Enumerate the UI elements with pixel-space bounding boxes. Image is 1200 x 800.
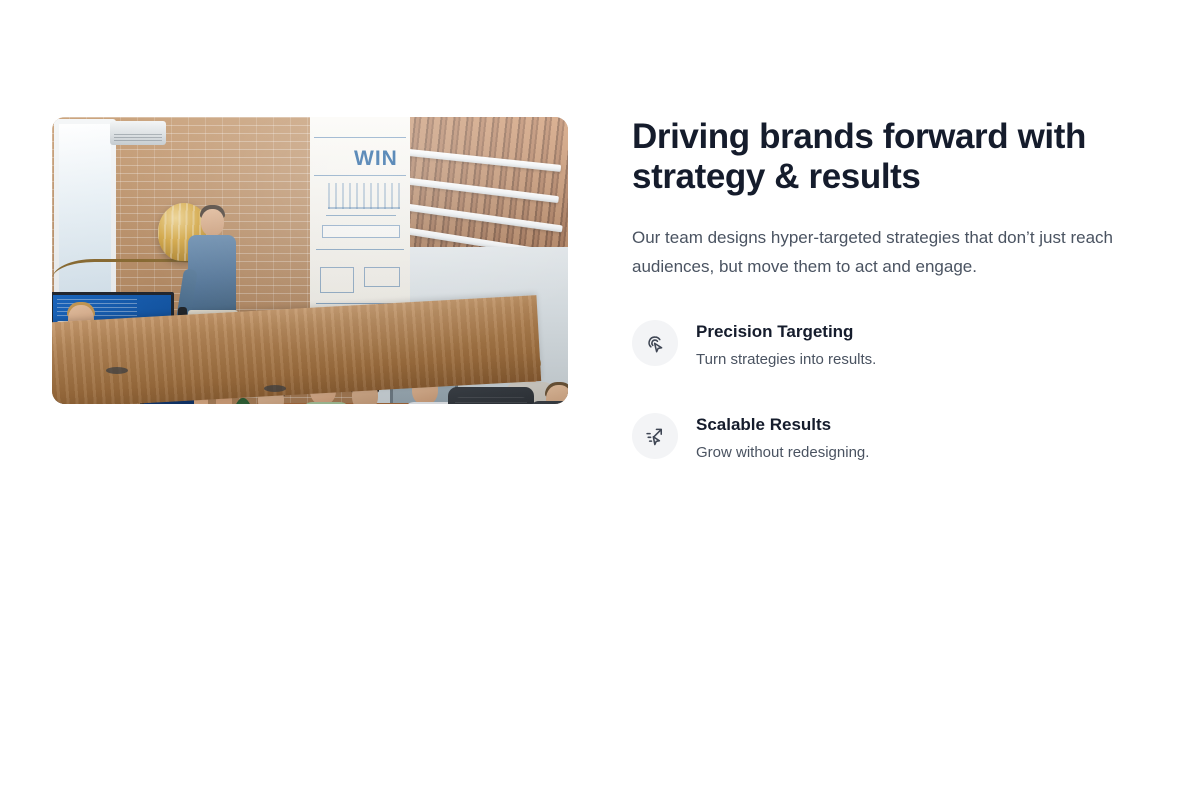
page-title: Driving brands forward with strategy & r… bbox=[632, 117, 1112, 197]
feature-description: Turn strategies into results. bbox=[696, 350, 876, 370]
mural-banner bbox=[322, 225, 400, 238]
section-description: Our team designs hyper-targeted strategi… bbox=[632, 223, 1148, 281]
mural-word: WIN bbox=[354, 147, 398, 171]
feature-description: Grow without redesigning. bbox=[696, 443, 869, 463]
feature-item-precision-targeting: Precision Targeting Turn strategies into… bbox=[632, 319, 1148, 370]
hero-image: WIN bbox=[52, 117, 568, 404]
office-meeting-photo: WIN bbox=[52, 117, 568, 404]
cursor-click-icon bbox=[632, 320, 678, 366]
presenter-head bbox=[201, 209, 224, 236]
office-chair bbox=[448, 387, 534, 404]
mural-skyline bbox=[328, 183, 400, 209]
feature-title: Precision Targeting bbox=[696, 321, 876, 343]
table-puck bbox=[264, 385, 286, 392]
page-root: WIN bbox=[0, 0, 1200, 800]
feature-item-scalable-results: Scalable Results Grow without redesignin… bbox=[632, 412, 1148, 463]
feature-title: Scalable Results bbox=[696, 414, 869, 436]
text-column: Driving brands forward with strategy & r… bbox=[632, 117, 1148, 463]
feature-text: Precision Targeting Turn strategies into… bbox=[696, 319, 876, 370]
table-puck bbox=[106, 367, 128, 374]
feature-section: WIN bbox=[52, 117, 1148, 463]
air-conditioner bbox=[110, 121, 166, 145]
feature-list: Precision Targeting Turn strategies into… bbox=[632, 319, 1148, 463]
office-chair bbox=[530, 401, 568, 404]
expand-arrow-icon bbox=[632, 413, 678, 459]
feature-text: Scalable Results Grow without redesignin… bbox=[696, 412, 869, 463]
